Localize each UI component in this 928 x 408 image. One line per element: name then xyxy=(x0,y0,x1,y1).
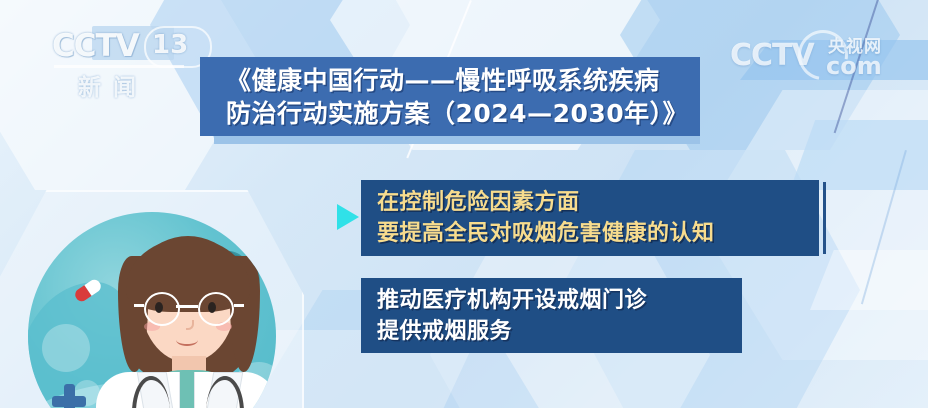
bullet-box-risk-factors: 在控制危险因素方面 要提高全民对吸烟危害健康的认知 xyxy=(361,180,819,256)
bullet-edge-accent-line xyxy=(823,182,826,254)
headline-title-box: 《健康中国行动——慢性呼吸系统疾病 防治行动实施方案（2024—2030年）》 xyxy=(200,57,700,136)
bubble-shape xyxy=(42,324,90,372)
glasses-bridge xyxy=(176,305,198,308)
doctor-figure xyxy=(98,230,276,408)
cctv-13-logo: CCTV 13 新闻 xyxy=(48,24,218,96)
glasses-temple-left xyxy=(134,304,144,307)
bullet-1-line-1: 在控制危险因素方面 xyxy=(377,187,819,218)
play-triangle-icon xyxy=(337,204,359,230)
cross-bar-horizontal xyxy=(52,396,86,407)
bullet-1-line-2: 要提高全民对吸烟危害健康的认知 xyxy=(377,218,819,249)
logo-brand-text: CCTV xyxy=(52,28,139,64)
title-line-1: 《健康中国行动——慢性呼吸系统疾病 xyxy=(226,64,700,97)
watermark-domain-suffix: com xyxy=(826,52,882,80)
bullet-box-smoking-cessation-clinic: 推动医疗机构开设戒烟门诊 提供戒烟服务 xyxy=(361,278,742,353)
bullet-2-line-2: 提供戒烟服务 xyxy=(377,316,742,347)
cctv-com-watermark: CCTV 央视网 com xyxy=(730,30,910,82)
female-doctor-illustration xyxy=(0,196,330,408)
logo-channel-number: 13 xyxy=(152,30,188,60)
round-glasses-icon xyxy=(138,292,240,322)
logo-channel-name: 新闻 xyxy=(78,68,148,102)
mouth xyxy=(176,334,198,346)
glasses-lens-right xyxy=(198,292,234,326)
broadcast-screenshot: CCTV 13 新闻 CCTV 央视网 com xyxy=(0,0,928,408)
glasses-lens-left xyxy=(144,292,180,326)
medical-cross-icon xyxy=(52,384,86,408)
glasses-temple-right xyxy=(234,304,244,307)
bullet-2-line-1: 推动医疗机构开设戒烟门诊 xyxy=(377,285,742,316)
title-line-2: 防治行动实施方案（2024—2030年）》 xyxy=(226,97,700,130)
